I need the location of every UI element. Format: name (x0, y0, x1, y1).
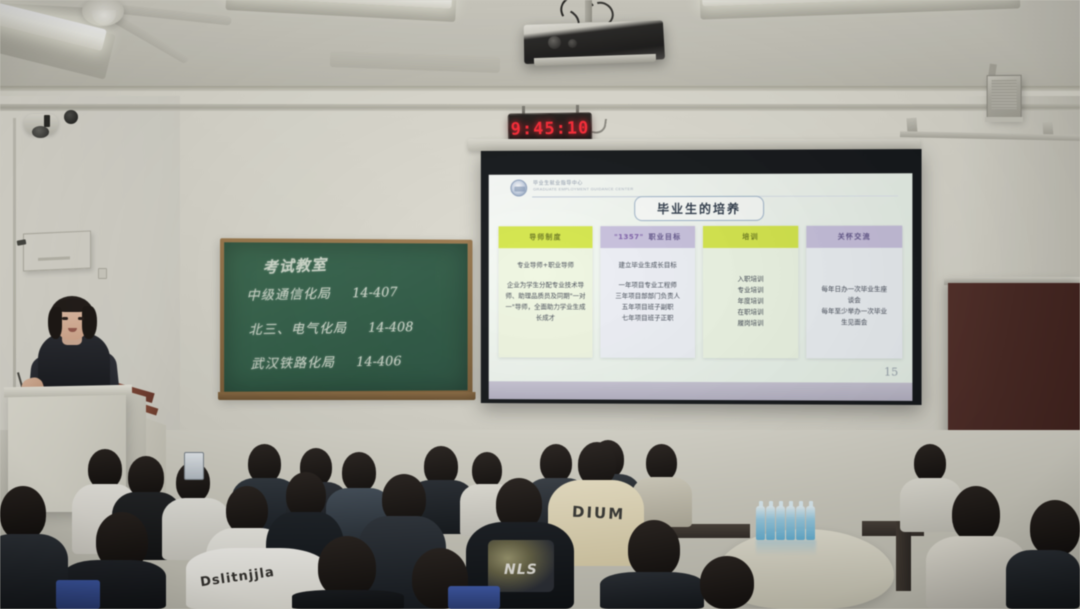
column-header: 导师制度 (499, 226, 593, 248)
shirt-text-nls: NLS (504, 562, 538, 578)
slide-org-name: 毕业生就业指导中心 GRADUATE EMPLOYMENT GUIDANCE C… (533, 180, 633, 192)
blackboard-row: 中级通信化局 14-407 (246, 281, 398, 304)
column-header-label: 导师制度 (529, 232, 561, 242)
audience-head (0, 486, 46, 540)
classroom-scene: 考试教室 中级通信化局 14-407 北三、电气化局 14-408 武汉铁路化局… (0, 0, 1080, 609)
projector-mount (585, 0, 592, 22)
blackboard-row: 北三、电气化局 14-408 (248, 316, 413, 338)
column-paragraph: 企业为学生分配专业技术导师、助理品质员及同期"一对一"导师，全面助力学业生成长成… (503, 280, 587, 324)
audience-head (472, 452, 502, 488)
screen-surface: 毕业生就业指导中心 GRADUATE EMPLOYMENT GUIDANCE C… (489, 173, 913, 383)
presentation-slide: 毕业生就业指导中心 GRADUATE EMPLOYMENT GUIDANCE C… (489, 173, 913, 383)
shirt-text-stadium: DIUM (572, 503, 626, 524)
chair-back (56, 580, 100, 609)
column-body: 专业导师+职业导师 企业为学生分配专业技术导师、助理品质员及同期"一对一"导师，… (499, 248, 593, 358)
column-line: 五年项目班子副职 (622, 302, 674, 313)
blackboard-room-number: 14-406 (356, 354, 402, 370)
column-header: 关怀交流 (806, 226, 902, 248)
presenter-eye (62, 317, 68, 320)
column-line: 七年项目班子正职 (622, 313, 674, 324)
column-line: 年度培训 (738, 296, 764, 307)
audience-head (700, 556, 754, 609)
audience-body (600, 572, 704, 609)
blackboard-surface: 考试教室 中级通信化局 14-407 北三、电气化局 14-408 武汉铁路化局… (224, 242, 467, 391)
water-bottle (796, 506, 805, 540)
column-line: 一年项目专业工程师 (619, 280, 677, 291)
column-body: 入职培训 专业培训 年度培训 在职培训 履岗培训 (703, 248, 798, 358)
blackboard: 考试教室 中级通信化局 14-407 北三、电气化局 14-408 武汉铁路化局… (220, 238, 472, 398)
audience-head (88, 449, 122, 489)
column-body: 建立毕业生成长目标 一年项目专业工程师 三年项目部部门负责人 五年项目班子副职 … (600, 248, 695, 358)
water-bottle (806, 506, 815, 540)
wall-outlet (98, 268, 107, 279)
presenter-hair-left (48, 307, 62, 339)
water-bottle (756, 506, 765, 540)
column-header-number: "1357" (614, 233, 644, 241)
camera-lens-icon (32, 126, 49, 138)
column-header-label: 关怀交流 (838, 232, 871, 242)
column-line: 生见面会 (841, 317, 867, 328)
wall-speaker (987, 75, 1022, 119)
water-bottle (766, 506, 775, 540)
projection-screen: 毕业生就业指导中心 GRADUATE EMPLOYMENT GUIDANCE C… (481, 149, 922, 405)
audience-head (952, 486, 1000, 542)
slide-column-4: 关怀交流 每年日办一次毕业生座 谈会 每年至少举办一次毕业 生见面会 (806, 226, 902, 359)
speaker-shelf (985, 117, 1023, 122)
blackboard-row-text: 中级通信化局 (246, 287, 331, 304)
motion-sensor-icon (64, 110, 78, 124)
blackboard-room-number: 14-408 (368, 320, 414, 336)
water-bottle (776, 506, 785, 540)
audience-body (1006, 550, 1080, 609)
chair-back (448, 586, 500, 609)
chalk-tray (218, 392, 475, 400)
column-body: 每年日办一次毕业生座 谈会 每年至少举办一次毕业 生见面会 (806, 248, 902, 359)
projector-focus-knob (568, 39, 577, 48)
column-line: 专业培训 (738, 285, 764, 296)
smartphone[interactable] (184, 452, 204, 480)
blackboard-row: 武汉铁路化局 14-406 (250, 350, 401, 372)
water-bottle (786, 506, 795, 540)
blackboard-title: 考试教室 (262, 254, 327, 278)
audience-head (628, 520, 680, 578)
column-line: 入职培训 (738, 274, 764, 285)
slide-title: 毕业生的培养 (657, 200, 741, 217)
blackboard-row-text: 武汉铁路化局 (250, 356, 335, 373)
slide-page-number: 15 (884, 366, 898, 379)
column-lead: 建立毕业生成长目标 (619, 260, 677, 271)
column-header: 培训 (703, 226, 798, 248)
bottle-reflection (756, 540, 816, 556)
column-line: 每年日办一次毕业生座 (821, 284, 887, 295)
slide-column-2: "1357" 职业目标 建立毕业生成长目标 一年项目专业工程师 三年项目部部门负… (600, 226, 695, 358)
audience-head (914, 444, 946, 482)
column-header-label: 职业目标 (649, 232, 682, 242)
audience-head (342, 452, 376, 492)
blackboard-row-text: 北三、电气化局 (248, 321, 347, 338)
presenter-hair-right (82, 306, 97, 339)
wall-notice-panel (23, 231, 91, 272)
slide-title-box: 毕业生的培养 (634, 196, 764, 221)
audience-head (1030, 500, 1080, 556)
audience-head (226, 486, 268, 534)
column-header-label: 培训 (742, 232, 758, 242)
column-header: "1357" 职业目标 (600, 226, 695, 248)
audience-head (318, 536, 376, 598)
audience-head (540, 444, 572, 482)
audience-body (292, 590, 404, 609)
clock-time-display: 9:45:10 (511, 118, 590, 139)
column-line: 每年至少举办一次毕业 (821, 306, 887, 317)
column-line: 履岗培训 (738, 318, 764, 329)
presenter-eye (78, 317, 84, 320)
speaker-grill-icon (991, 80, 1016, 109)
org-sub-text: GRADUATE EMPLOYMENT GUIDANCE CENTER (533, 186, 633, 192)
column-line: 三年项目部部门负责人 (615, 291, 680, 302)
audience-head (646, 444, 677, 481)
slide-column-1: 导师制度 专业导师+职业导师 企业为学生分配专业技术导师、助理品质员及同期"一对… (499, 226, 593, 358)
projector-lens-icon (548, 36, 561, 49)
column-line: 谈会 (848, 295, 861, 306)
column-line: 在职培训 (738, 307, 764, 318)
column-lead: 专业导师+职业导师 (517, 260, 574, 271)
wall-bracket (44, 115, 50, 127)
slide-column-3: 培训 入职培训 专业培训 年度培训 在职培训 履岗培训 (703, 226, 798, 358)
wall-rail (0, 104, 1080, 111)
screen-bottom-reflection (489, 381, 913, 401)
organization-logo-icon (510, 180, 527, 197)
water-bottles (756, 506, 816, 540)
blackboard-room-number: 14-407 (352, 285, 398, 301)
slide-columns: 导师制度 专业导师+职业导师 企业为学生分配专业技术导师、助理品质员及同期"一对… (499, 226, 903, 359)
